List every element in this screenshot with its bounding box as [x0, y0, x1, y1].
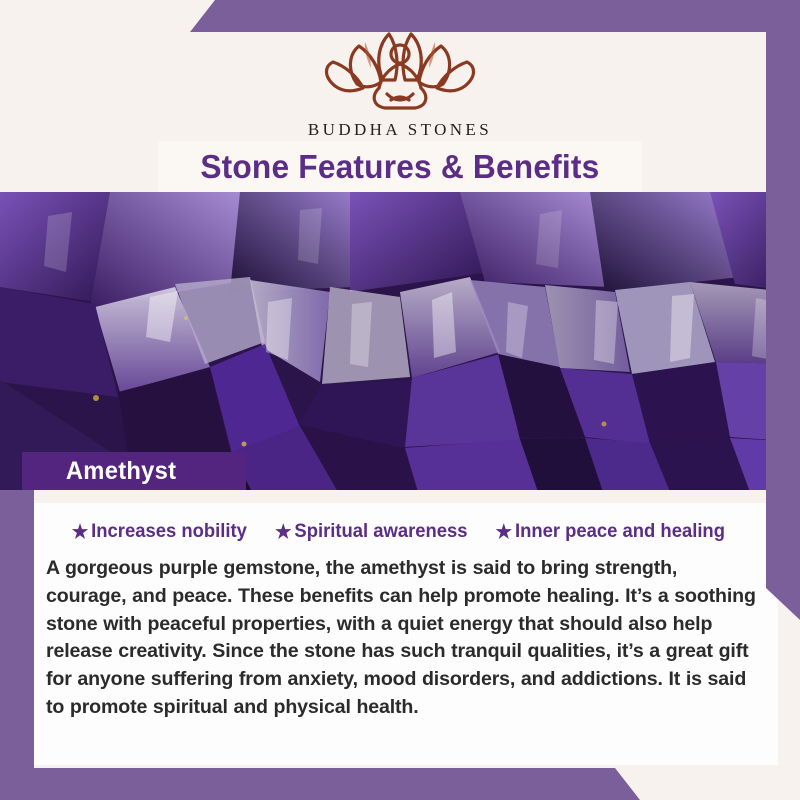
benefit-label: Spiritual awareness — [294, 521, 467, 543]
brand-logo: BUDDHA STONES — [0, 22, 800, 140]
amethyst-crystal-cluster-illustration — [0, 192, 800, 492]
divider-strip — [0, 490, 800, 503]
benefit-item-0: ★ Increases nobility — [72, 521, 247, 543]
stone-description: A gorgeous purple gemstone, the amethyst… — [36, 555, 762, 722]
stone-info-card: BUDDHA STONES Stone Features & Benefits … — [0, 0, 800, 800]
benefit-item-2: ★ Inner peace and healing — [496, 521, 725, 543]
stone-name-banner: Amethyst — [22, 452, 246, 490]
star-icon: ★ — [72, 523, 89, 542]
frame-bottom-bar — [0, 768, 640, 800]
benefits-list: ★ Increases nobility ★ Spiritual awarene… — [36, 521, 762, 543]
benefit-item-1: ★ Spiritual awareness — [275, 521, 468, 543]
title-band: Stone Features & Benefits — [158, 141, 642, 192]
brand-name: BUDDHA STONES — [308, 120, 492, 140]
frame-right-bar — [766, 0, 800, 620]
star-icon: ★ — [275, 523, 292, 542]
frame-left-bar — [0, 490, 34, 800]
page-title: Stone Features & Benefits — [200, 148, 599, 186]
benefit-label: Increases nobility — [91, 521, 247, 543]
amethyst-photo — [0, 192, 800, 492]
star-icon: ★ — [496, 523, 513, 542]
stone-name: Amethyst — [26, 457, 176, 486]
stone-details-panel: ★ Increases nobility ★ Spiritual awarene… — [22, 503, 778, 765]
lotus-meditation-figure-icon — [305, 22, 495, 114]
benefit-label: Inner peace and healing — [515, 521, 725, 543]
